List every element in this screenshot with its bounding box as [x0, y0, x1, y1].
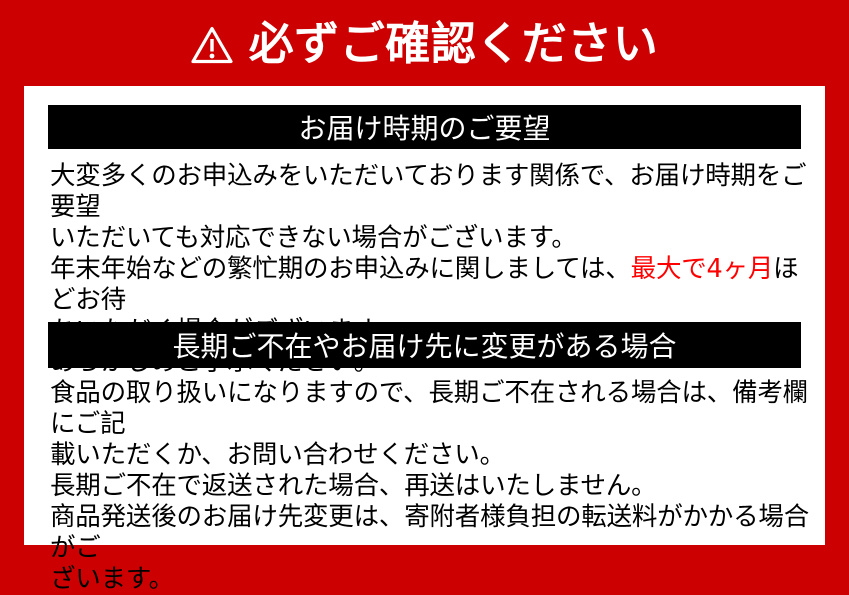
banner-header: 必ずご確認ください — [0, 0, 849, 86]
content-panel: お届け時期のご要望 大変多くのお申込みをいただいております関係で、お届け時期をご… — [24, 86, 825, 545]
section-bar-delivery-timing: お届け時期のご要望 — [48, 105, 801, 149]
highlight-max-four-months: 最大で4ヶ月 — [631, 254, 774, 284]
body-text-absence-address-change: 食品の取り扱いになりますので、長期ご不在される場合は、備考欄にご記 載いただくか… — [50, 378, 810, 595]
banner-title: 必ずご確認ください — [249, 21, 659, 66]
warning-triangle-icon — [191, 26, 233, 64]
notice-banner: 必ずご確認ください お届け時期のご要望 大変多くのお申込みをいただいております関… — [0, 0, 849, 561]
section-bar-absence-address-change: 長期ご不在やお届け先に変更がある場合 — [48, 322, 801, 368]
